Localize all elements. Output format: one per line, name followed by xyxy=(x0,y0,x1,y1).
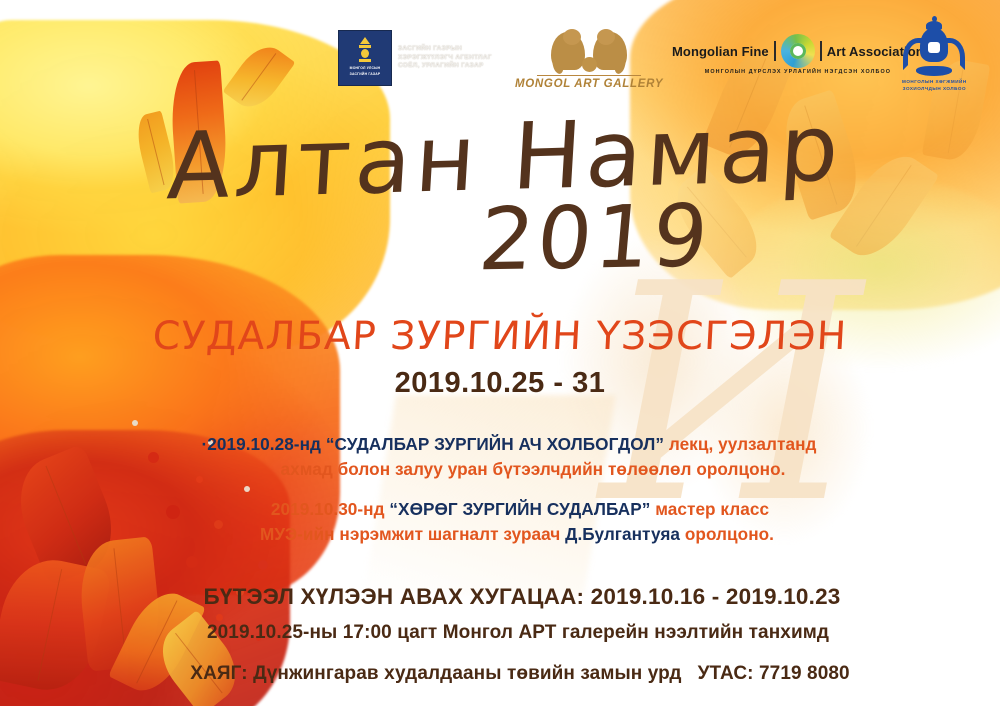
event-entry: 2019.10.30-нд “ХӨРӨГ ЗУРГИЙН СУДАЛБАР” м… xyxy=(0,497,1000,547)
exhibition-dates: 2019.10.25 - 31 xyxy=(0,366,1000,400)
poster-canvas: И xyxy=(0,0,1000,706)
submission-deadline: БҮТЭЭЛ ХҮЛЭЭН АВАХ ХУГАЦАА: 2019.10.16 -… xyxy=(0,583,1000,611)
text-run: лекц, уулзалтанд xyxy=(669,434,817,454)
spiral-icon xyxy=(781,34,815,68)
composers-line-1: МОНГОЛЫН ХӨГЖМИЙН xyxy=(902,79,967,85)
event-line: 2019.10.30-нд “ХӨРӨГ ЗУРГИЙН СУДАЛБАР” м… xyxy=(0,497,1000,522)
gov-line-1: ЗАСГИЙН ГАЗРЫН xyxy=(398,45,492,54)
paint-splatter-dot xyxy=(258,560,268,570)
poster-subtitle: СУДАЛБАР ЗУРГИЙН ҮЗЭСГЭЛЭН xyxy=(0,315,1000,359)
text-run: Д.Булгантуяа xyxy=(565,524,685,544)
gallery-name: MONGOL ART GALLERY xyxy=(515,78,663,90)
gallery-crest-icon xyxy=(541,28,637,74)
paint-splatter-dot xyxy=(186,556,198,568)
mfaa-divider-bar xyxy=(774,41,776,61)
logo-mongolian-fine-art-association: Mongolian Fine Art Association МОНГОЛЫН … xyxy=(672,34,924,75)
event-line: ·2019.10.28-нд “СУДАЛБАР ЗУРГИЙН АЧ ХОЛБ… xyxy=(0,432,1000,457)
text-run: ахмад болон залуу уран бүтээлчдийн төлөө… xyxy=(280,459,785,479)
text-run: оролцоно. xyxy=(685,524,774,544)
event-line: МУЭ-ийн нэрэмжит шагналт зураач Д.Булган… xyxy=(0,522,1000,547)
poster-title-year: 2019 xyxy=(0,191,1000,289)
mfaa-divider-bar xyxy=(820,41,822,61)
soyombo-emblem-icon: МОНГОЛ УЛСЫН ЗАСГИЙН ГАЗАР xyxy=(338,30,392,86)
opening-info: 2019.10.25-ны 17:00 цагт Монгол АРТ гале… xyxy=(0,620,1000,646)
composers-line-2: ЗОХИОЛЧДЫН ХОЛБОО xyxy=(903,86,966,92)
emblem-line-2: ЗАСГИЙН ГАЗАР xyxy=(350,72,381,76)
contact-phone: УТАС: 7719 8080 xyxy=(698,663,850,684)
logo-composers-union: МОНГОЛЫН ХӨГЖМИЙН ЗОХИОЛЧДЫН ХОЛБОО xyxy=(902,24,967,92)
soyombo-icon xyxy=(357,34,373,64)
address-and-phone: ХАЯГ: Дүнжингарав худалдааны төвийн замы… xyxy=(0,661,1000,687)
emblem-line-1: МОНГОЛ УЛСЫН xyxy=(350,66,381,70)
mfaa-cyrillic-name: МОНГОЛЫН ДҮРСЛЭХ УРЛАГИЙН НЭГДСЭН ХОЛБОО xyxy=(705,69,891,75)
partner-logo-row: МОНГОЛ УЛСЫН ЗАСГИЙН ГАЗАР ЗАСГИЙН ГАЗРЫ… xyxy=(0,28,1000,100)
venue-address: ХАЯГ: Дүнжингарав худалдааны төвийн замы… xyxy=(190,663,681,684)
paint-splatter-dot xyxy=(244,486,250,492)
text-run: “ХӨРӨГ ЗУРГИЙН СУДАЛБАР” xyxy=(389,499,655,519)
text-run: “СУДАЛБАР ЗУРГИЙН АЧ ХОЛБОГДОЛ” xyxy=(326,434,669,454)
text-run: мастер класс xyxy=(655,499,769,519)
paint-splatter-dot xyxy=(132,420,138,426)
poster-title-block: Алтан Намар 2019 xyxy=(0,112,1000,280)
gov-line-2: ХЭРЭГЖҮҮЛЭГЧ АГЕНТЛАГ xyxy=(398,54,492,63)
gallery-divider-rule xyxy=(537,75,641,76)
text-run: МУЭ-ийн нэрэмжит шагналт зураач xyxy=(260,524,565,544)
vase-emblem-icon xyxy=(903,24,965,78)
cream-diagonal-band xyxy=(364,395,616,595)
gov-line-3: СОЁЛ, УРЛАГИЙН ГАЗАР xyxy=(398,62,492,71)
text-run: 2019.10.30-нд xyxy=(271,499,390,519)
event-entry: ·2019.10.28-нд “СУДАЛБАР ЗУРГИЙН АЧ ХОЛБ… xyxy=(0,432,1000,482)
mfaa-left-word: Mongolian Fine xyxy=(672,44,769,59)
government-agency-text: ЗАСГИЙН ГАЗРЫН ХЭРЭГЖҮҮЛЭГЧ АГЕНТЛАГ СОЁ… xyxy=(398,45,492,71)
logo-mongol-art-gallery: MONGOL ART GALLERY xyxy=(515,28,663,90)
text-run: ·2019.10.28-нд xyxy=(202,434,326,454)
event-line: ахмад болон залуу уран бүтээлчдийн төлөө… xyxy=(0,457,1000,482)
logo-government: МОНГОЛ УЛСЫН ЗАСГИЙН ГАЗАР ЗАСГИЙН ГАЗРЫ… xyxy=(338,30,492,86)
